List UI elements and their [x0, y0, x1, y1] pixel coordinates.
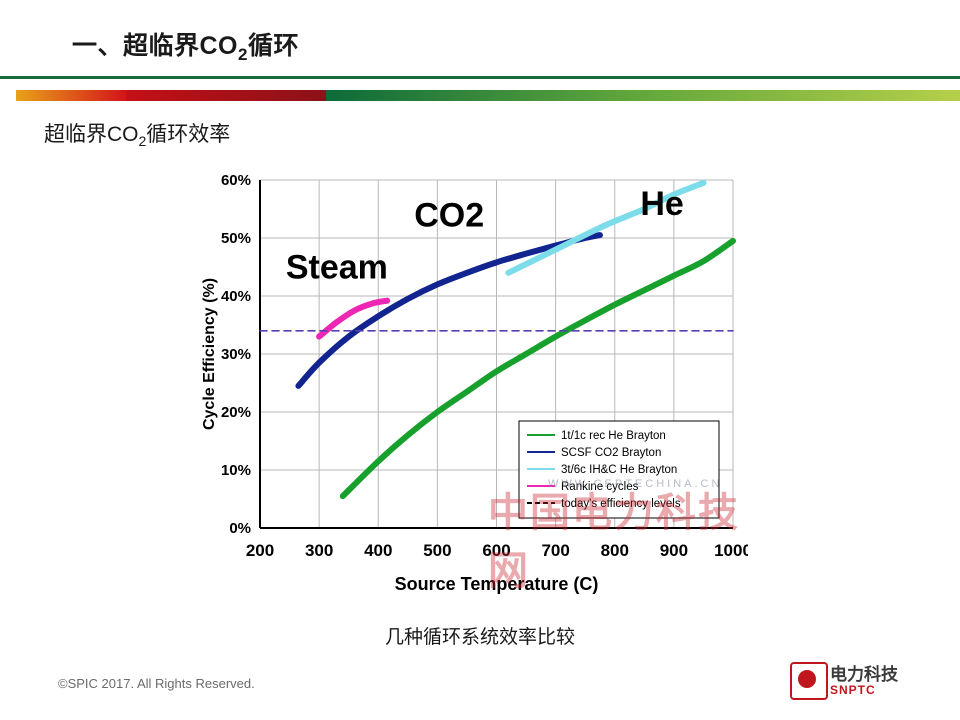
y-axis-tick-label: 0%: [229, 520, 251, 537]
x-axis-tick-label: 600: [482, 541, 510, 560]
x-axis-tick-label: 900: [660, 541, 688, 560]
section-heading: 超临界CO2循环效率: [44, 118, 230, 149]
x-axis-tick-label: 300: [305, 541, 333, 560]
title-divider: [0, 76, 960, 79]
section-heading-prefix: 超临界CO: [44, 123, 139, 146]
x-axis-tick-label: 500: [423, 541, 451, 560]
y-axis-tick-label: 60%: [221, 172, 251, 189]
x-axis-tick-label: 800: [601, 541, 629, 560]
gradient-accent-bar: [0, 90, 960, 101]
series-annotation: He: [640, 185, 683, 223]
series-annotation: Steam: [286, 249, 388, 287]
chart-canvas: 0%10%20%30%40%50%60%20030040050060070080…: [188, 160, 748, 600]
y-axis-tick-label: 20%: [221, 404, 251, 421]
legend-label: Rankine cycles: [561, 481, 639, 493]
page-title-subscript: 2: [238, 45, 248, 64]
legend-label: 3t/6c IH&C He Brayton: [561, 464, 677, 476]
gradient-segment-green: [326, 90, 960, 101]
x-axis-tick-label: 400: [364, 541, 392, 560]
page-title: 一、超临界CO2循环: [72, 26, 299, 65]
y-axis-tick-label: 30%: [221, 346, 251, 363]
logo-mark-inner-icon: [798, 670, 816, 688]
page-title-suffix: 循环: [248, 32, 299, 60]
y-axis-title: Cycle Efficiency (%): [201, 278, 218, 430]
gradient-segment-red: [126, 90, 326, 101]
y-axis-tick-label: 10%: [221, 462, 251, 479]
efficiency-chart: 0%10%20%30%40%50%60%20030040050060070080…: [188, 160, 748, 600]
section-heading-suffix: 循环效率: [146, 123, 230, 146]
footer-copyright: ©SPIC 2017. All Rights Reserved.: [58, 676, 255, 691]
gradient-segment-white: [0, 90, 16, 101]
x-axis-tick-label: 700: [541, 541, 569, 560]
logo-text-chinese: 电力科技: [830, 660, 898, 685]
page-title-prefix: 一、超临界CO: [72, 32, 238, 60]
y-axis-tick-label: 40%: [221, 288, 251, 305]
legend-label: today's efficiency levels: [561, 498, 681, 510]
x-axis-tick-label: 200: [246, 541, 274, 560]
company-logo: 电力科技 SNPTC: [790, 658, 940, 704]
y-axis-tick-label: 50%: [221, 230, 251, 247]
legend-label: SCSF CO2 Brayton: [561, 447, 661, 459]
legend-label: 1t/1c rec He Brayton: [561, 430, 666, 442]
chart-caption: 几种循环系统效率比较: [0, 622, 960, 649]
logo-text-english: SNPTC: [830, 683, 876, 697]
logo-mark-icon: [790, 662, 828, 700]
x-axis-tick-label: 1000: [714, 541, 748, 560]
series-annotation: CO2: [414, 196, 484, 234]
gradient-segment-orange: [16, 90, 126, 101]
x-axis-title: Source Temperature (C): [395, 574, 599, 594]
